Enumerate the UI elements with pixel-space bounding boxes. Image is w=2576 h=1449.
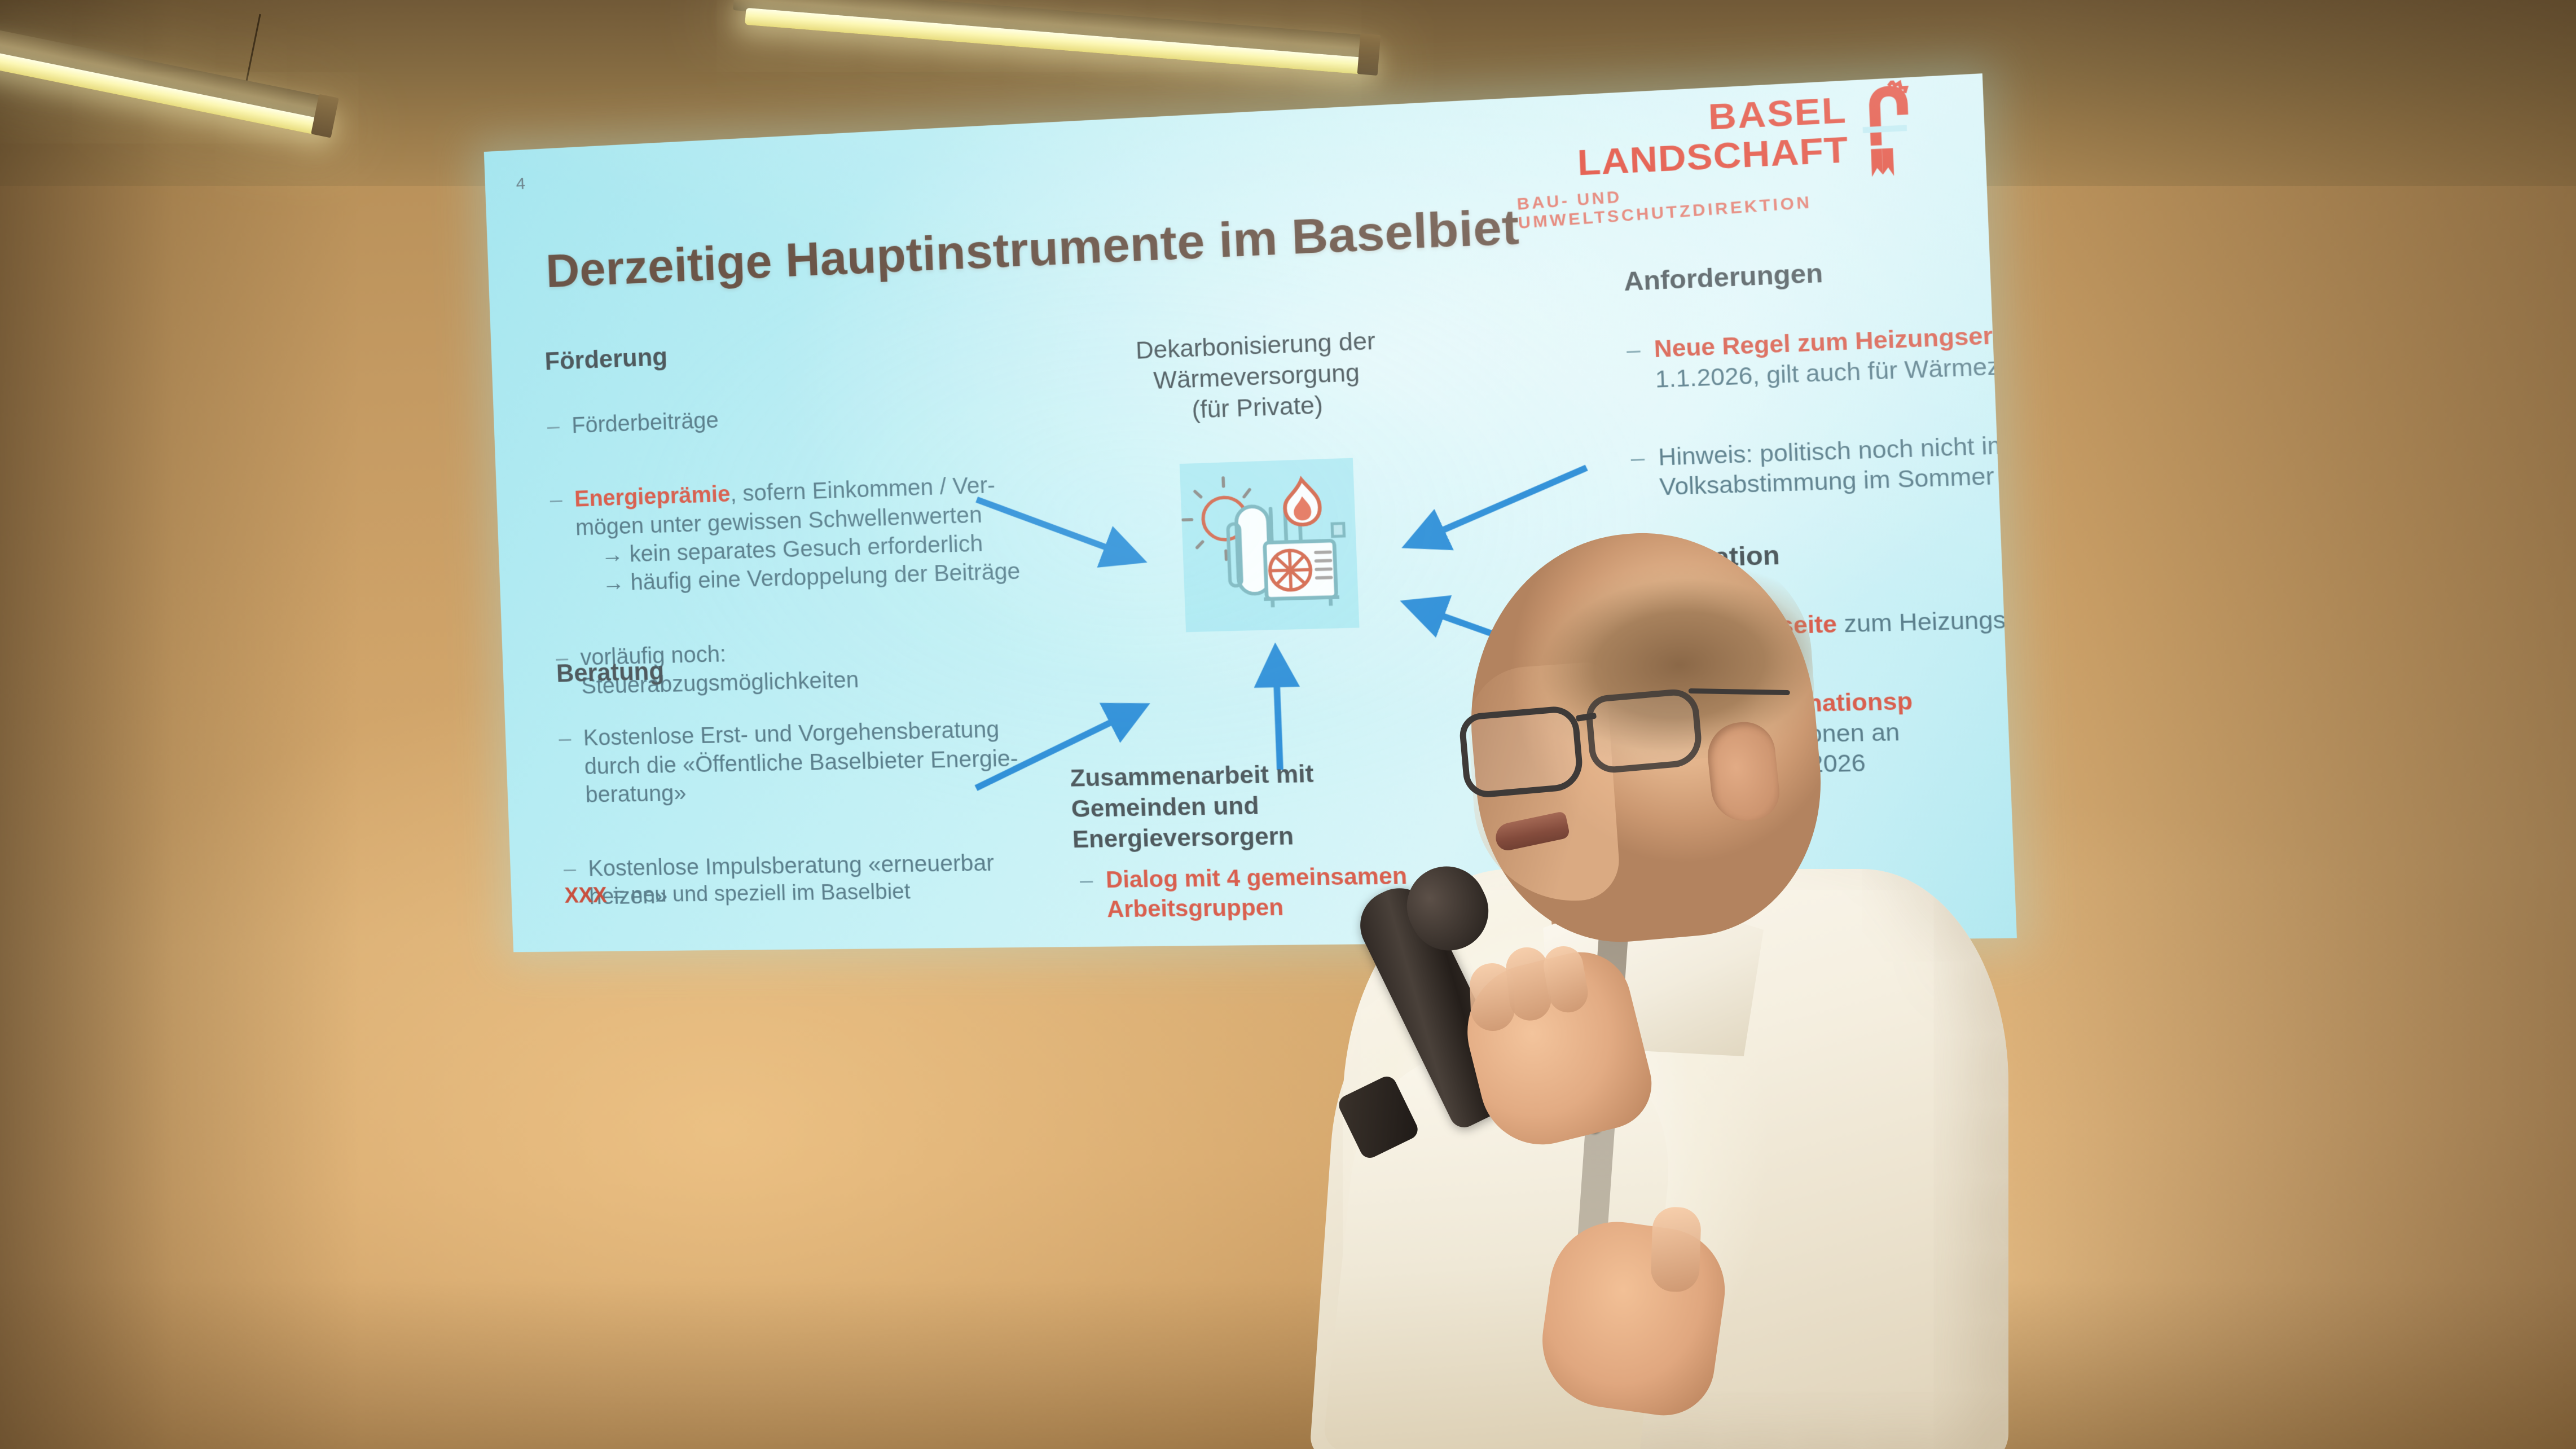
slide-number: 4 [516,174,526,194]
thumb [1650,1206,1702,1293]
section-heading-anforderungen: Anforderungen [1623,257,1823,299]
bullet-dash: – [1630,443,1647,503]
list-item: – Hinweis: politisch noch nicht im Trock… [1630,423,2017,503]
arrow-anforderungen-to-center [1391,462,1596,562]
bullet-dash: – [559,725,574,810]
photo-scene: 4 BASEL LANDSCHAFT [0,0,2576,1449]
wall-shadow-left [0,0,361,1449]
basel-landschaft-logo: BASEL LANDSCHAFT BAU- UND UMWELTSCHUTZDI… [1513,73,1957,231]
list-anforderungen: – Neue Regel zum Heizungsersatz ab 1.1.2… [1625,282,2017,551]
bullet-dash: – [1626,335,1642,396]
glasses-lens-right [1585,687,1704,775]
list-item-text: Förderbeiträge [572,395,1019,440]
bullet-dash: – [1079,866,1094,924]
arrow-foerderung-to-center [972,488,1157,580]
bullet-dash: – [547,412,560,441]
legend-line: XXX = neu und speziell im Baselbiet [564,879,911,910]
light-endcap [1357,33,1381,76]
legend-marker: XXX [564,884,608,908]
speaker-presenter [1157,553,2116,1449]
legend-text: = neu und speziell im Baselbiet [606,880,911,907]
highlight-text: Energieprämie [574,482,731,512]
page-title: Derzeitige Hauptinstrumente im Baselbiet [545,198,1520,298]
center-title: Dekarbonisierung der Wärmeversorgung (fü… [1071,323,1444,430]
glasses-lens-left [1458,705,1584,800]
glasses-temple [1689,688,1790,695]
list-item: – Neue Regel zum Heizungsersatz ab 1.1.2… [1626,312,2017,396]
list-item-text: Energieprämie, sofern Einkommen / Ver- m… [574,470,1025,599]
list-item: – Energieprämie, sofern Einkommen / Ver-… [550,470,1026,599]
list-item: – Kostenlose Erst- und Vorgehensberatung… [559,714,1040,810]
section-heading-beratung: Beratung [556,656,665,690]
bullet-dash: – [550,486,566,599]
section-heading-foerderung: Förderung [544,341,668,377]
list-item-text: Neue Regel zum Heizungsersatz ab 1.1.202… [1654,312,2017,394]
list-item-text: Hinweis: politisch noch nicht im Trocken… [1658,423,2017,503]
list-item: – Förderbeiträge [547,395,1019,441]
